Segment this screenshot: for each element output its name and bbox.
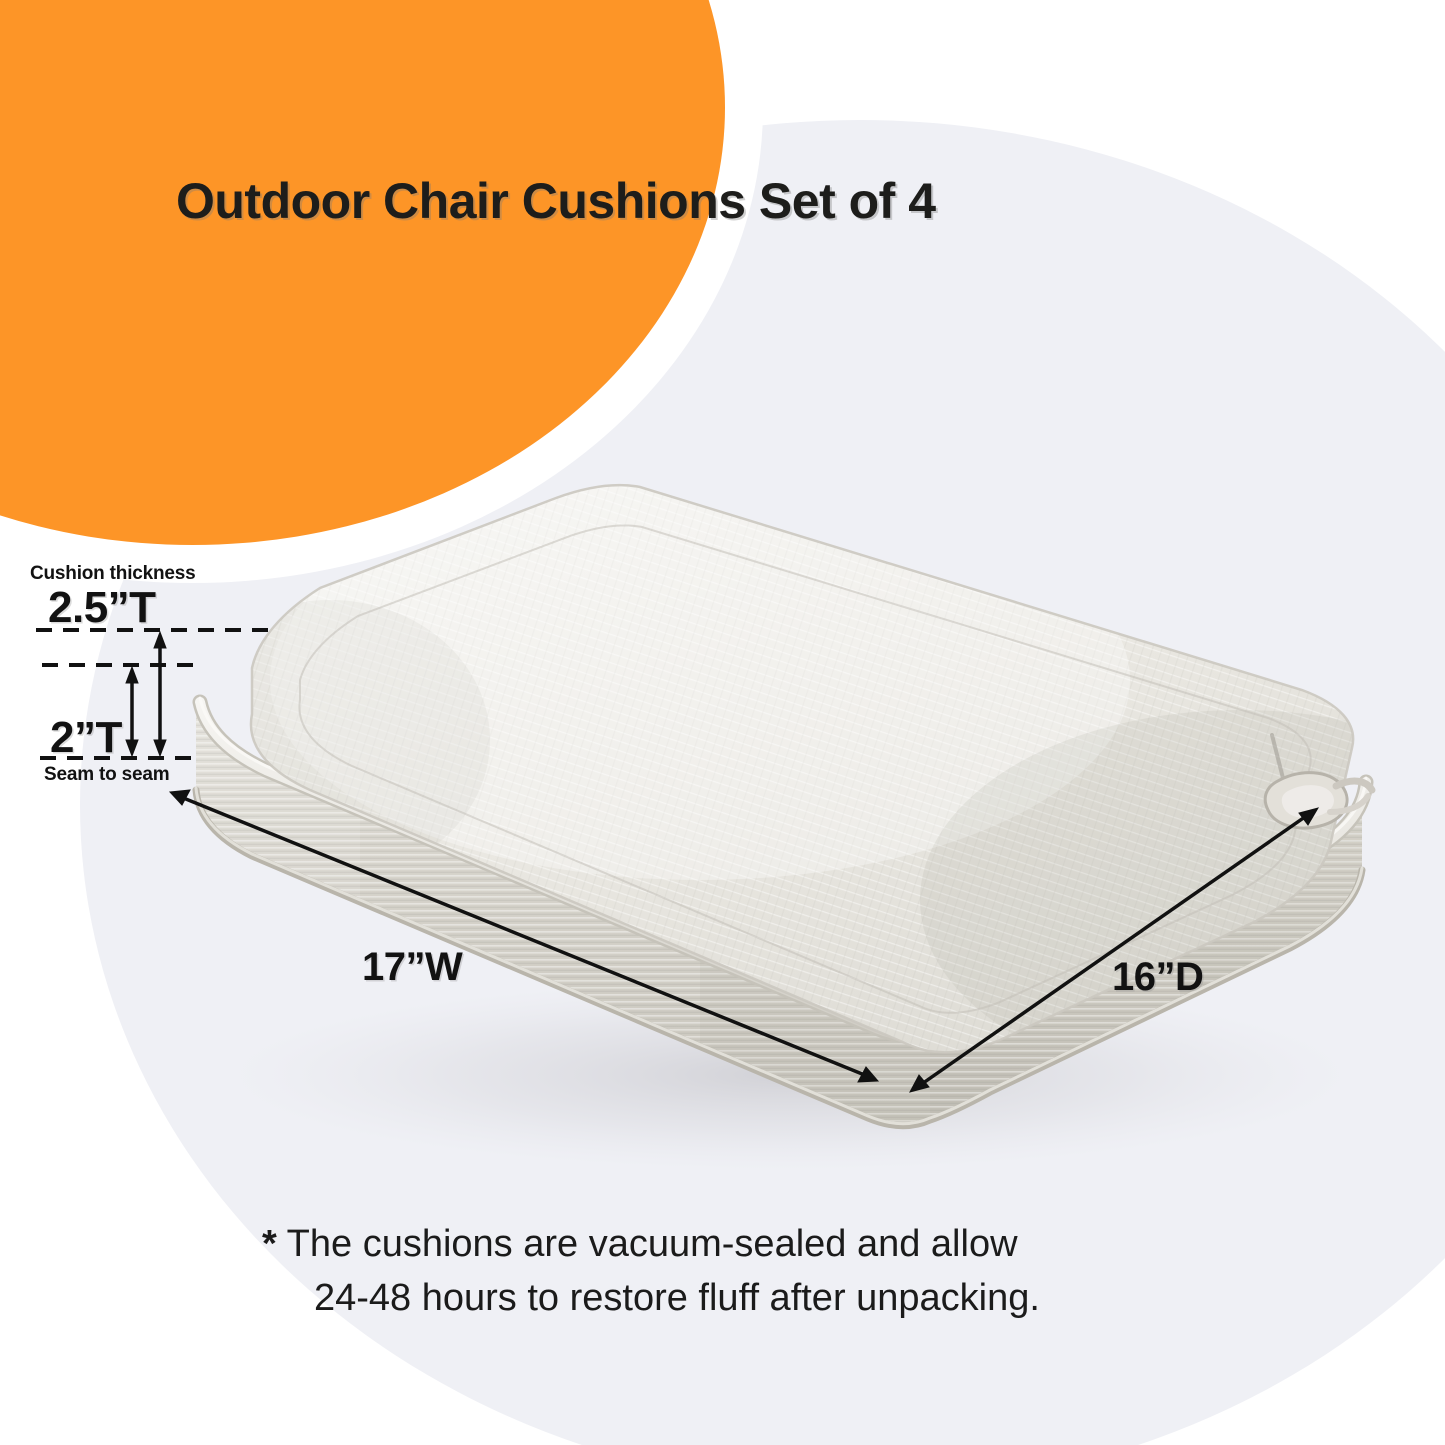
footnote-asterisk: * <box>262 1223 277 1265</box>
footnote-line-1: The cushions are vacuum-sealed and allow <box>287 1223 1018 1265</box>
footnote-line-2: 24-48 hours to restore fluff after unpac… <box>314 1272 1242 1326</box>
cushion-top-panel <box>170 470 1445 1090</box>
label-seam-thickness: 2”T <box>50 713 122 763</box>
footnote: * The cushions are vacuum-sealed and all… <box>262 1218 1242 1326</box>
label-width: 17”W <box>362 945 462 990</box>
label-depth: 16”D <box>1112 955 1203 1000</box>
label-seam-to-seam: Seam to seam <box>44 764 169 786</box>
label-cushion-thickness: Cushion thickness <box>30 563 196 585</box>
infographic-canvas: Outdoor Chair Cushions Set of 4 <box>0 0 1445 1445</box>
label-overall-thickness: 2.5”T <box>48 583 156 633</box>
